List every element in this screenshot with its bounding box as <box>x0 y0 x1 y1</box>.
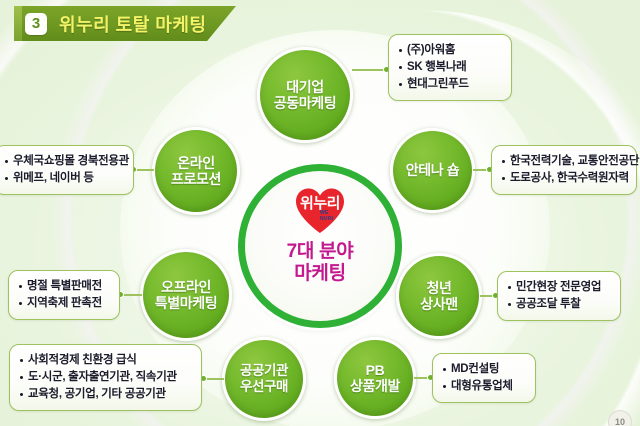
node-label-gonggong-gigwan: 공공기관우선구매 <box>238 363 290 394</box>
list-item: 명절 특별판매전 <box>18 278 110 295</box>
title-banner: 3 위누리 토탈 마케팅 <box>14 6 236 41</box>
node-gonggong-gigwan[interactable]: 공공기관우선구매 <box>222 337 306 421</box>
list-item: 한국전력기술, 교통안전공단 <box>501 153 627 170</box>
list-item: (주)아워홈 <box>398 42 502 59</box>
banner-left-accent <box>14 6 22 41</box>
node-cheongnyeon[interactable]: 청년상사맨 <box>396 253 482 339</box>
node-label-antenna-shop: 안테나 숍 <box>404 162 461 178</box>
node-daegieop[interactable]: 대기업공동마케팅 <box>257 47 353 143</box>
logo-english-text: WE NURI <box>320 210 344 223</box>
node-label-cheongnyeon: 청년상사맨 <box>418 280 459 312</box>
callout-offline: 명절 특별판매전 지역축제 판촉전 <box>8 270 120 320</box>
node-antenna-shop[interactable]: 안테나 숍 <box>390 128 475 213</box>
node-label-daegieop: 대기업공동마케팅 <box>272 79 338 111</box>
node-label-offline: 오프라인특별마케팅 <box>153 279 219 311</box>
center-hub: 위누리 WE NURI 7대 분야 마케팅 <box>238 164 402 328</box>
slide-canvas: 3 위누리 토탈 마케팅 위누리 WE NURI 7대 분야 마케팅 대기업공동… <box>0 0 640 426</box>
list-item: MD컨설팅 <box>442 361 526 378</box>
node-label-pb-sangpum: PB상품개발 <box>348 362 402 394</box>
list-item: 위메프, 네이버 등 <box>4 170 124 187</box>
list-item: 민간현장 전문영업 <box>507 279 611 296</box>
list-item: 교육청, 공기업, 기타 공공기관 <box>19 386 192 403</box>
weenuri-heart-logo: 위누리 WE NURI <box>294 187 346 234</box>
center-headline-line2: 마케팅 <box>294 263 346 285</box>
callout-online: 우체국쇼핑몰 경북전용관 위메프, 네이버 등 <box>0 145 134 195</box>
node-online[interactable]: 온라인프로모션 <box>152 127 240 215</box>
section-number-badge: 3 <box>25 13 47 35</box>
callout-antenna-shop: 한국전력기술, 교통안전공단 도로공사, 한국수력원자력 <box>491 145 637 195</box>
callout-pb-sangpum: MD컨설팅 대형유통업체 <box>432 353 536 403</box>
node-label-online: 온라인프로모션 <box>169 155 223 187</box>
callout-gonggong-gigwan: 사회적경제 친환경 급식 도·시군, 출자출연기관, 직속기관 교육청, 공기업… <box>9 344 202 411</box>
list-item: SK 행복나래 <box>398 59 502 76</box>
connector-online <box>135 169 154 171</box>
list-item: 사회적경제 친환경 급식 <box>19 352 192 369</box>
list-item: 우체국쇼핑몰 경북전용관 <box>4 153 124 170</box>
list-item: 대형유통업체 <box>442 378 526 395</box>
center-headline-line1: 7대 분야 <box>287 241 354 263</box>
callout-daegieop: (주)아워홈 SK 행복나래 현대그린푸드 <box>388 34 512 101</box>
list-item: 지역축제 판촉전 <box>18 295 110 312</box>
callout-cheongnyeon: 민간현장 전문영업 공공조달 투찰 <box>497 271 621 321</box>
logo-korean-text: 위누리 <box>294 196 346 211</box>
connector-offline <box>122 294 142 296</box>
page-number: 10 <box>608 410 632 426</box>
connector-gonggong-gigwan <box>204 378 224 380</box>
list-item: 현대그린푸드 <box>398 76 502 93</box>
node-offline[interactable]: 오프라인특별마케팅 <box>140 249 232 341</box>
connector-daegieop <box>352 69 386 71</box>
list-item: 도·시군, 출자출연기관, 직속기관 <box>19 369 192 386</box>
node-pb-sangpum[interactable]: PB상품개발 <box>334 337 416 419</box>
list-item: 공공조달 투찰 <box>507 296 611 313</box>
page-title: 위누리 토탈 마케팅 <box>59 11 206 37</box>
list-item: 도로공사, 한국수력원자력 <box>501 170 627 187</box>
